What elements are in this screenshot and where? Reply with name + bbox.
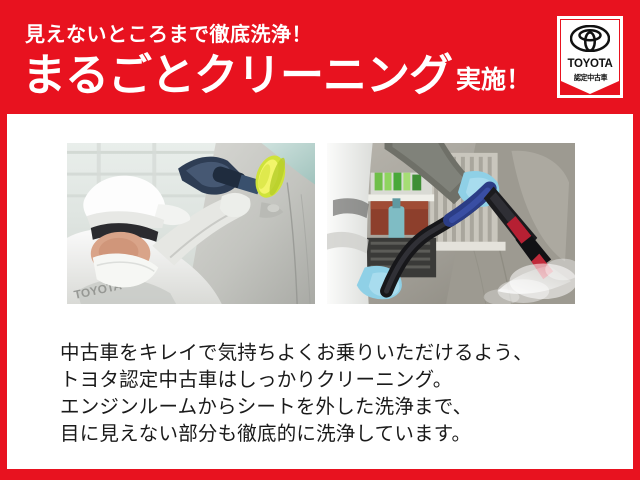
photo-exterior-polishing: TOYOTA [66,142,316,305]
banner-subheadline: 見えないところまで徹底洗浄！ [25,25,312,45]
logo-inner-card: TOYOTA 認定中古車 [560,19,620,95]
body-line-4: 目に見えない部分も徹底的に洗浄しています。 [60,421,600,448]
banner-headline-main: まるごとクリーニング [22,54,452,98]
logo-brand-text: TOYOTA [567,59,612,71]
banner-headline-row: まるごとクリーニング 実施！ [22,54,531,98]
frame-border-bottom [0,469,640,480]
body-line-2: トヨタ認定中古車はしっかりクリーニング。 [60,367,600,394]
header-banner: 見えないところまで徹底洗浄！ まるごとクリーニング 実施！ TOYOTA 認定中… [0,0,640,114]
toyota-ellipse-emblem-icon [570,25,610,57]
body-line-1: 中古車をキレイで気持ちよくお乗りいただけるよう、 [60,340,600,367]
banner-headline-tail: 実施！ [456,68,531,93]
frame-border-right [633,0,640,480]
toyota-certified-used-car-logo: TOYOTA 認定中古車 [557,16,623,98]
body-copy: 中古車をキレイで気持ちよくお乗りいただけるよう、 トヨタ認定中古車はしっかりクリ… [60,340,600,448]
photo-strip: TOYOTA [66,142,576,305]
frame-border-left [0,0,7,480]
logo-certification-text: 認定中古車 [573,74,606,82]
body-line-3: エンジンルームからシートを外した洗浄まで、 [60,394,600,421]
cleaning-promo-poster: 見えないところまで徹底洗浄！ まるごとクリーニング 実施！ TOYOTA 認定中… [0,0,640,480]
photo-seat-steam-cleaning [326,142,576,305]
